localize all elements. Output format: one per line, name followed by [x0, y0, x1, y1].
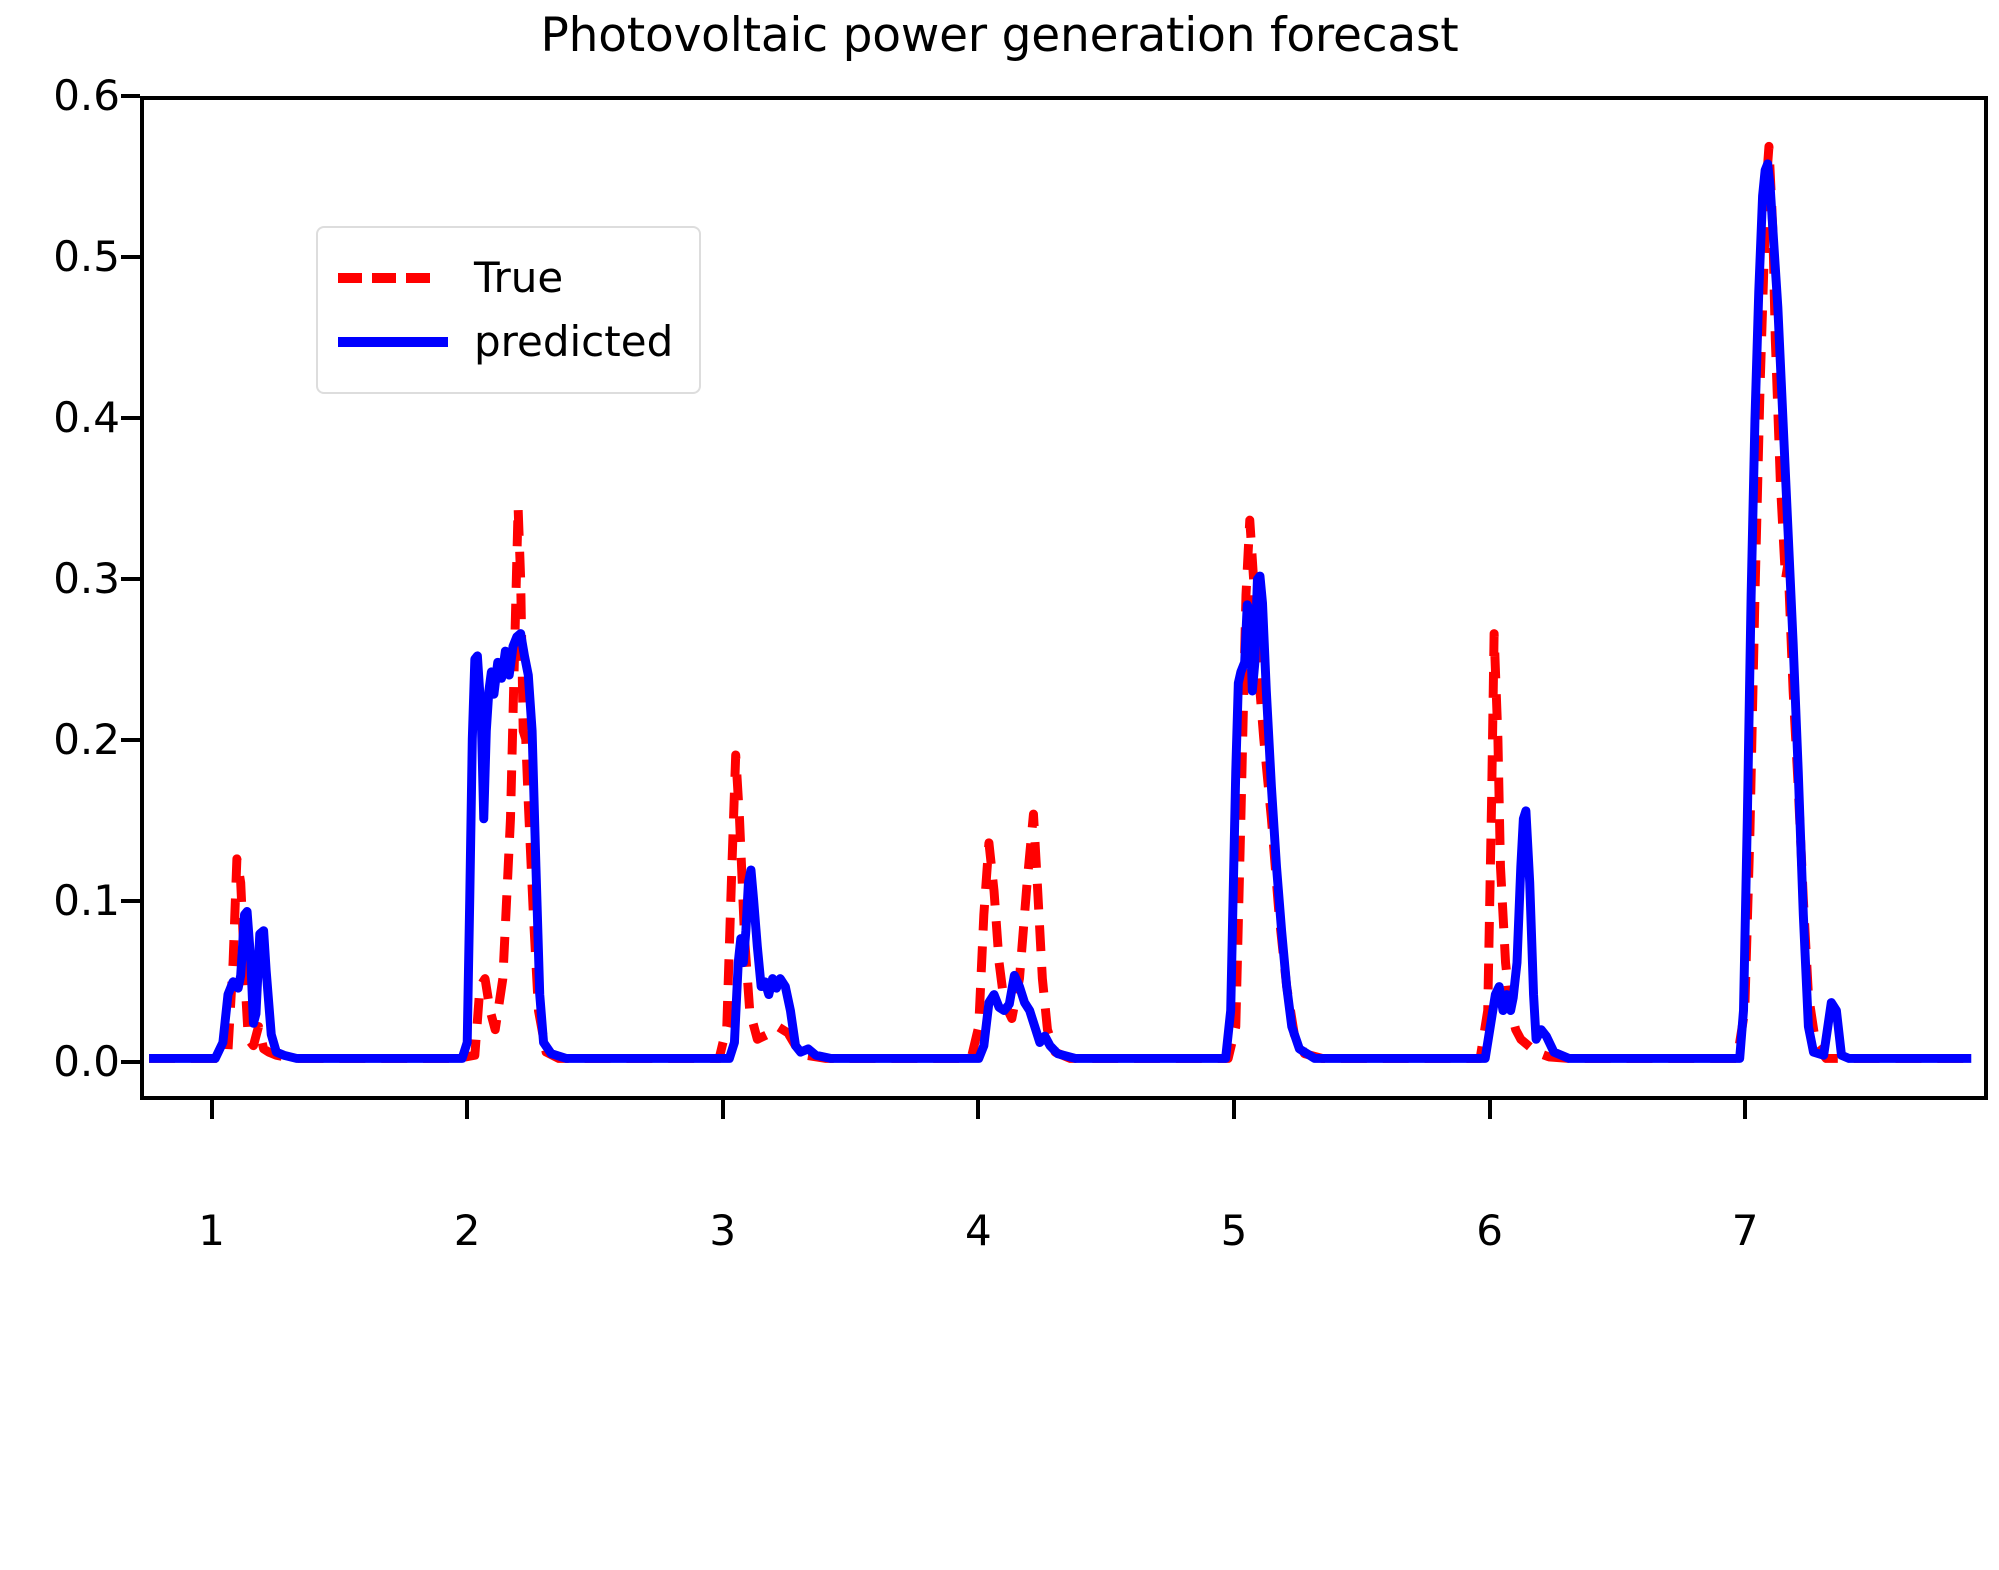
y-tick-label-0.4: 0.4: [0, 397, 120, 439]
y-tick-mark-0.3: [121, 577, 140, 581]
x-tick-mark-4: [976, 1100, 980, 1119]
x-tick-label-4: 4: [918, 1210, 1038, 1252]
y-tick-label-0.6: 0.6: [0, 75, 120, 117]
legend-item-predicted[interactable]: predicted: [338, 310, 673, 374]
y-tick-mark-0.5: [121, 255, 140, 259]
legend-label-predicted: predicted: [474, 321, 673, 363]
y-tick-label-0.5: 0.5: [0, 236, 120, 278]
x-tick-mark-5: [1232, 1100, 1236, 1119]
x-tick-label-1: 1: [152, 1210, 272, 1252]
y-tick-mark-0.4: [121, 416, 140, 420]
legend-swatch-predicted-solid-line: [338, 325, 448, 359]
y-tick-label-0.2: 0.2: [0, 719, 120, 761]
x-tick-label-6: 6: [1430, 1210, 1550, 1252]
x-tick-label-2: 2: [407, 1210, 527, 1252]
y-tick-mark-0.1: [121, 899, 140, 903]
y-tick-mark-0.6: [121, 94, 140, 98]
legend-item-true[interactable]: True: [338, 246, 673, 310]
x-tick-mark-1: [210, 1100, 214, 1119]
chart-legend[interactable]: True predicted: [316, 226, 701, 394]
plot-area: True predicted: [140, 96, 1988, 1100]
x-tick-mark-7: [1743, 1100, 1747, 1119]
legend-label-true: True: [474, 257, 563, 299]
y-tick-label-0.1: 0.1: [0, 880, 120, 922]
chart-title: Photovoltaic power generation forecast: [0, 8, 1999, 63]
y-tick-mark-0.2: [121, 738, 140, 742]
chart-figure: Photovoltaic power generation forecast 0…: [0, 0, 1999, 1570]
y-tick-mark-0.0: [121, 1060, 140, 1064]
x-tick-label-3: 3: [663, 1210, 783, 1252]
y-tick-label-0.3: 0.3: [0, 558, 120, 600]
legend-swatch-true-dashed-line: [338, 261, 448, 295]
x-tick-mark-6: [1488, 1100, 1492, 1119]
x-tick-label-5: 5: [1174, 1210, 1294, 1252]
x-tick-label-7: 7: [1685, 1210, 1805, 1252]
y-tick-label-0.0: 0.0: [0, 1041, 120, 1083]
x-tick-mark-3: [721, 1100, 725, 1119]
x-tick-mark-2: [465, 1100, 469, 1119]
